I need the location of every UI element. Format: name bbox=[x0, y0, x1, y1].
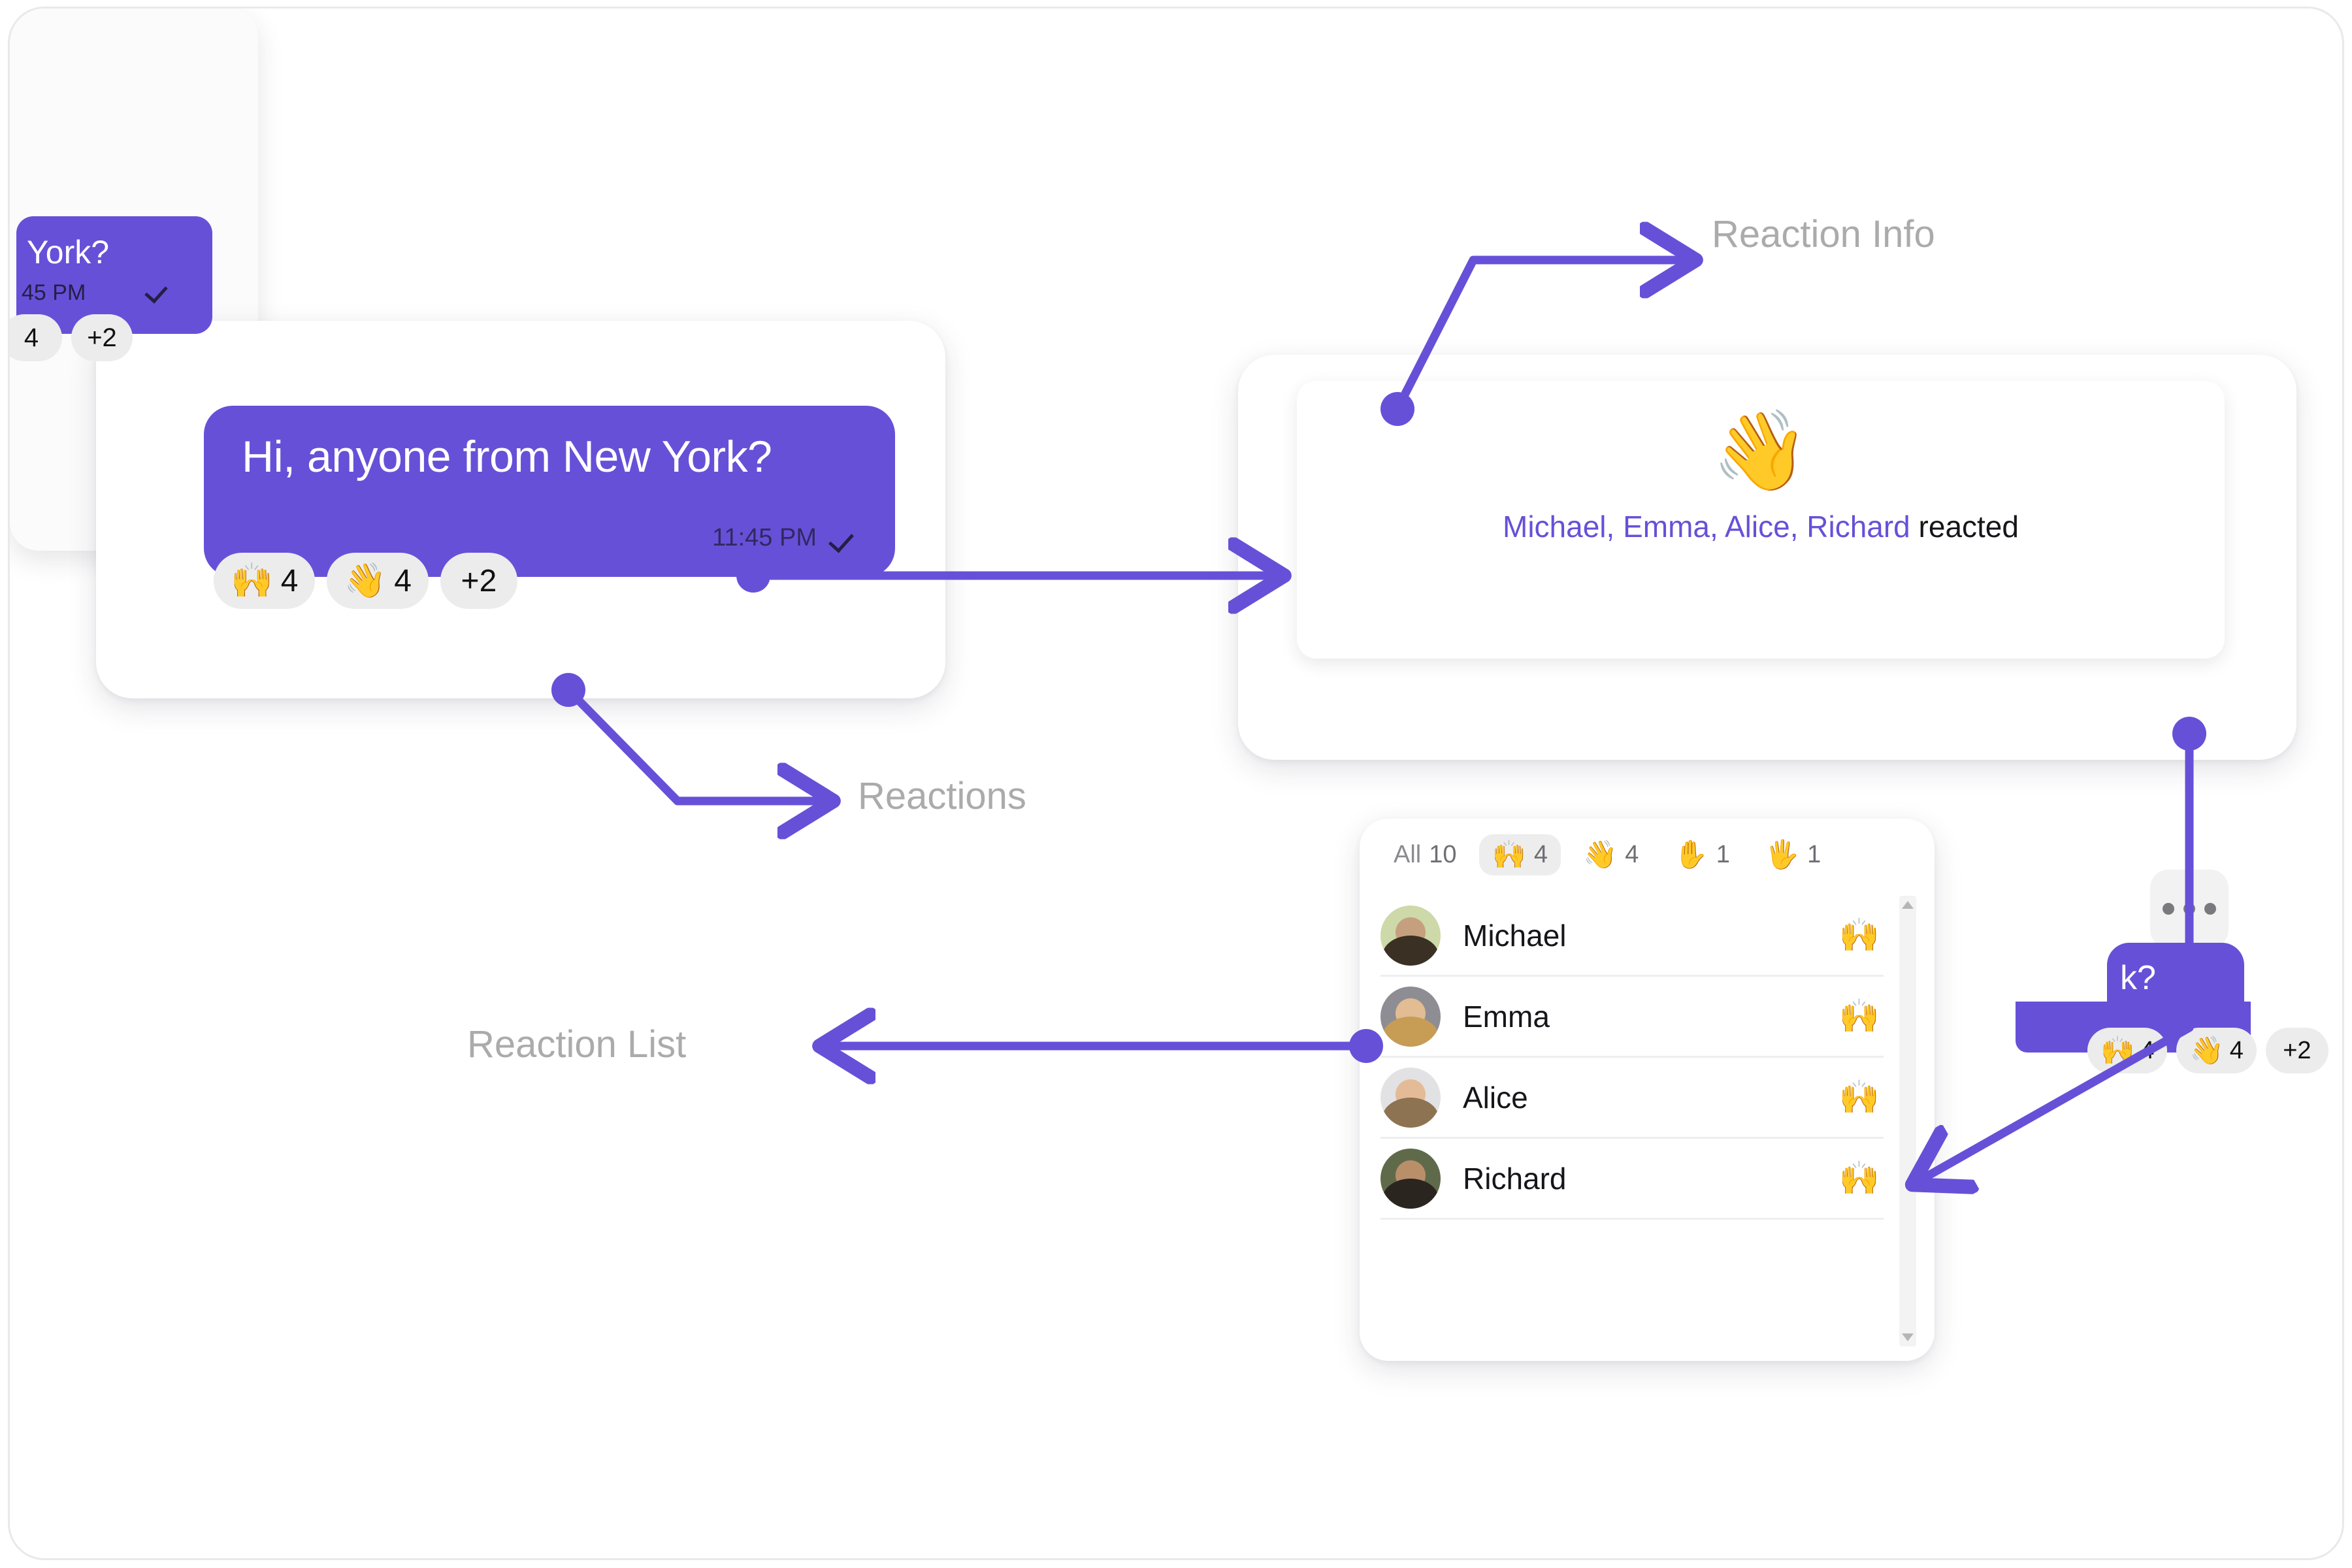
tab-count: 1 bbox=[1807, 841, 1821, 869]
peek-reaction-pill-waving-hand[interactable]: 👋 4 bbox=[2176, 1028, 2256, 1073]
behind-reaction-pill[interactable]: 4 bbox=[8, 314, 62, 361]
annotation-connectors bbox=[10, 8, 2344, 1560]
raised-hands-icon: 🙌 bbox=[1839, 1159, 1880, 1198]
more-horizontal-icon[interactable] bbox=[2150, 870, 2229, 948]
tab-raised-hands[interactable]: 🙌 4 bbox=[1479, 834, 1561, 875]
list-item-name: Michael bbox=[1463, 918, 1839, 953]
behind-reaction-pill-more[interactable]: +2 bbox=[71, 314, 133, 361]
reaction-count: 4 bbox=[2230, 1037, 2244, 1065]
waving-hand-icon: 👋 bbox=[2189, 1037, 2223, 1064]
reaction-pill-raised-hands[interactable]: 🙌 4 bbox=[214, 553, 315, 609]
reaction-info-text: Michael, Emma, Alice, Richard reacted bbox=[1503, 509, 2019, 544]
dot bbox=[2183, 903, 2195, 915]
reaction-info-suffix: reacted bbox=[1910, 510, 2019, 544]
list-item-name: Alice bbox=[1463, 1080, 1839, 1115]
reaction-count: 4 bbox=[24, 323, 39, 353]
tab-all[interactable]: All 10 bbox=[1380, 834, 1470, 875]
reaction-count: 4 bbox=[281, 563, 299, 599]
tab-count: 4 bbox=[1625, 841, 1639, 869]
app-frame: Hi, anyone from New York? 11:45 PM 🙌 4 👋… bbox=[8, 7, 2344, 1560]
peek-reaction-pill-raised-hands[interactable]: 🙌 4 bbox=[2087, 1028, 2167, 1073]
dot bbox=[2163, 903, 2174, 915]
reaction-overflow-count: +2 bbox=[2283, 1037, 2311, 1065]
behind-bubble-timestamp: 45 PM bbox=[22, 280, 86, 306]
avatar bbox=[1380, 1068, 1441, 1128]
tab-raised-hand[interactable]: ✋ 1 bbox=[1661, 834, 1742, 875]
list-item[interactable]: Richard 🙌 bbox=[1380, 1139, 1884, 1220]
raised-hands-icon: 🙌 bbox=[1839, 916, 1880, 955]
avatar bbox=[1380, 987, 1441, 1047]
reaction-filter-tabs: All 10 🙌 4 👋 4 ✋ 1 🖐️ 1 bbox=[1360, 819, 1935, 890]
reaction-overflow-count: +2 bbox=[461, 563, 497, 599]
peek-bubble-text: k? bbox=[2120, 958, 2156, 998]
list-item-name: Emma bbox=[1463, 999, 1839, 1034]
reaction-info-card: k? 🙌 4 👋 4 +2 👋 Mich bbox=[1238, 355, 2296, 760]
tab-all-label: All bbox=[1394, 841, 1421, 869]
bubble-message-text: Hi, anyone from New York? bbox=[242, 434, 860, 479]
avatar bbox=[1380, 1149, 1441, 1209]
hand-splayed-icon: 🖐️ bbox=[1765, 841, 1799, 868]
screenshot-stage: Hi, anyone from New York? 11:45 PM 🙌 4 👋… bbox=[0, 0, 2352, 1568]
bubble-timestamp: 11:45 PM bbox=[712, 524, 817, 552]
peek-reaction-pill-more[interactable]: +2 bbox=[2266, 1028, 2328, 1073]
behind-reaction-pill-row: 4 +2 bbox=[8, 314, 133, 361]
raised-hands-icon: 🙌 bbox=[1839, 997, 1880, 1036]
tab-hand-splayed[interactable]: 🖐️ 1 bbox=[1752, 834, 1834, 875]
reaction-count: 4 bbox=[394, 563, 412, 599]
tab-waving-hand[interactable]: 👋 4 bbox=[1570, 834, 1652, 875]
reaction-pill-waving-hand[interactable]: 👋 4 bbox=[327, 553, 428, 609]
peek-reaction-pill-row: 🙌 4 👋 4 +2 bbox=[2087, 1028, 2328, 1073]
double-check-icon bbox=[147, 282, 173, 300]
tab-count: 4 bbox=[1534, 841, 1548, 869]
reaction-user-list: Michael 🙌 Emma 🙌 Alice 🙌 Richard 🙌 bbox=[1380, 896, 1884, 1220]
tab-count: 1 bbox=[1716, 841, 1730, 869]
annotation-label-reaction-list: Reaction List bbox=[467, 1022, 686, 1066]
raised-hands-icon: 🙌 bbox=[2100, 1037, 2134, 1064]
list-item[interactable]: Alice 🙌 bbox=[1380, 1058, 1884, 1139]
reaction-list-card: All 10 🙌 4 👋 4 ✋ 1 🖐️ 1 bbox=[1360, 819, 1935, 1361]
message-preview-card: Hi, anyone from New York? 11:45 PM 🙌 4 👋… bbox=[96, 321, 945, 698]
caret-up-icon[interactable] bbox=[1902, 901, 1914, 909]
reaction-pill-more[interactable]: +2 bbox=[440, 553, 517, 609]
reaction-info-inner: 👋 Michael, Emma, Alice, Richard reacted bbox=[1297, 381, 2225, 659]
dot bbox=[2204, 903, 2216, 915]
waving-hand-icon: 👋 bbox=[1712, 410, 1809, 492]
reaction-pill-row: 🙌 4 👋 4 +2 bbox=[214, 553, 517, 609]
reaction-overflow-count: +2 bbox=[87, 323, 117, 353]
scrollbar[interactable] bbox=[1899, 896, 1916, 1347]
bubble-meta: 11:45 PM bbox=[712, 524, 858, 552]
annotation-label-reactions: Reactions bbox=[858, 774, 1026, 818]
annotation-label-reaction-info: Reaction Info bbox=[1712, 212, 1935, 256]
reaction-count: 4 bbox=[2140, 1037, 2154, 1065]
list-item[interactable]: Michael 🙌 bbox=[1380, 896, 1884, 977]
raised-hands-icon: 🙌 bbox=[231, 564, 273, 598]
list-item-name: Richard bbox=[1463, 1161, 1839, 1196]
chat-bubble-outgoing: Hi, anyone from New York? 11:45 PM bbox=[204, 406, 895, 577]
reaction-info-names: Michael, Emma, Alice, Richard bbox=[1503, 510, 1910, 544]
avatar bbox=[1380, 906, 1441, 966]
raised-hand-icon: ✋ bbox=[1674, 841, 1708, 868]
behind-bubble-text: York? bbox=[27, 233, 109, 271]
raised-hands-icon: 🙌 bbox=[1839, 1078, 1880, 1117]
double-check-icon bbox=[831, 529, 858, 548]
waving-hand-icon: 👋 bbox=[344, 564, 386, 598]
tab-all-count: 10 bbox=[1429, 841, 1456, 869]
connector-reaction-list bbox=[833, 1029, 1383, 1063]
raised-hands-icon: 🙌 bbox=[1492, 841, 1526, 868]
caret-down-icon[interactable] bbox=[1902, 1333, 1914, 1341]
list-item[interactable]: Emma 🙌 bbox=[1380, 977, 1884, 1058]
waving-hand-icon: 👋 bbox=[1583, 841, 1617, 868]
